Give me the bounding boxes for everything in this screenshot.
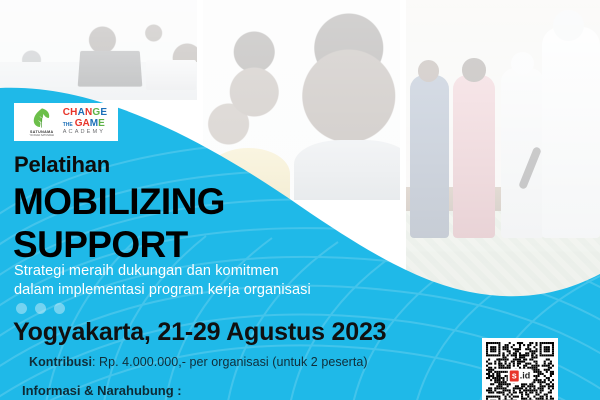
subtitle-line-1: Strategi meraih dukungan dan komitmen <box>14 262 414 281</box>
cga-line-the-game: THE GAME <box>63 119 108 129</box>
cga-m: M <box>90 118 98 129</box>
change-the-game-academy-logo: CHANGE THE GAME ACADEMY <box>63 108 108 136</box>
fee-label: Kontribusi <box>29 355 92 369</box>
qr-code[interactable]: s .id <box>482 338 558 400</box>
qr-brand-badge: s .id <box>508 370 533 383</box>
leaf-icon <box>31 107 53 129</box>
cga-game: GAME <box>75 119 105 129</box>
cga-a: A <box>78 107 85 118</box>
poster: SATUNAMA YAYASAN SATUNAMA CHANGE THE GAM… <box>0 0 600 400</box>
satunama-logo: SATUNAMA YAYASAN SATUNAMA <box>25 107 59 137</box>
cga-academy: ACADEMY <box>63 130 108 136</box>
dot-3 <box>54 303 65 314</box>
satunama-name: SATUNAMA <box>30 130 54 134</box>
satunama-wordmark: SATUNAMA YAYASAN SATUNAMA <box>29 130 54 137</box>
satunama-subtext: YAYASAN SATUNAMA <box>29 134 54 137</box>
cga-the: THE <box>63 123 73 128</box>
subtitle-line-2: dalam implementasi program kerja organis… <box>14 281 414 300</box>
cga-ga: GA <box>75 118 90 129</box>
title-line-1: MOBILIZING <box>13 183 225 220</box>
cga-game-e: E <box>98 118 105 129</box>
contact-heading: Informasi & Narahubung : <box>22 383 182 398</box>
qr-brand-s: s <box>510 371 519 382</box>
decorative-dots <box>16 303 65 314</box>
fee-line: Kontribusi: Rp. 4.000.000,- per organisa… <box>29 355 368 369</box>
place-and-date: Yogyakarta, 21-29 Agustus 2023 <box>13 318 386 347</box>
qr-brand-suffix: .id <box>520 372 531 381</box>
subtitle: Strategi meraih dukungan dan komitmen da… <box>14 262 414 301</box>
poster-content: SATUNAMA YAYASAN SATUNAMA CHANGE THE GAM… <box>0 0 600 400</box>
cga-ch: CH <box>63 107 78 118</box>
dot-1 <box>16 303 27 314</box>
dot-2 <box>35 303 46 314</box>
cga-line-change: CHANGE <box>63 108 108 118</box>
logo-lockup: SATUNAMA YAYASAN SATUNAMA CHANGE THE GAM… <box>14 103 118 141</box>
title-line-2: SUPPORT <box>13 226 188 263</box>
cga-e: E <box>100 107 107 118</box>
kicker-text: Pelatihan <box>14 152 110 178</box>
fee-value: : Rp. 4.000.000,- per organisasi (untuk … <box>92 355 368 369</box>
